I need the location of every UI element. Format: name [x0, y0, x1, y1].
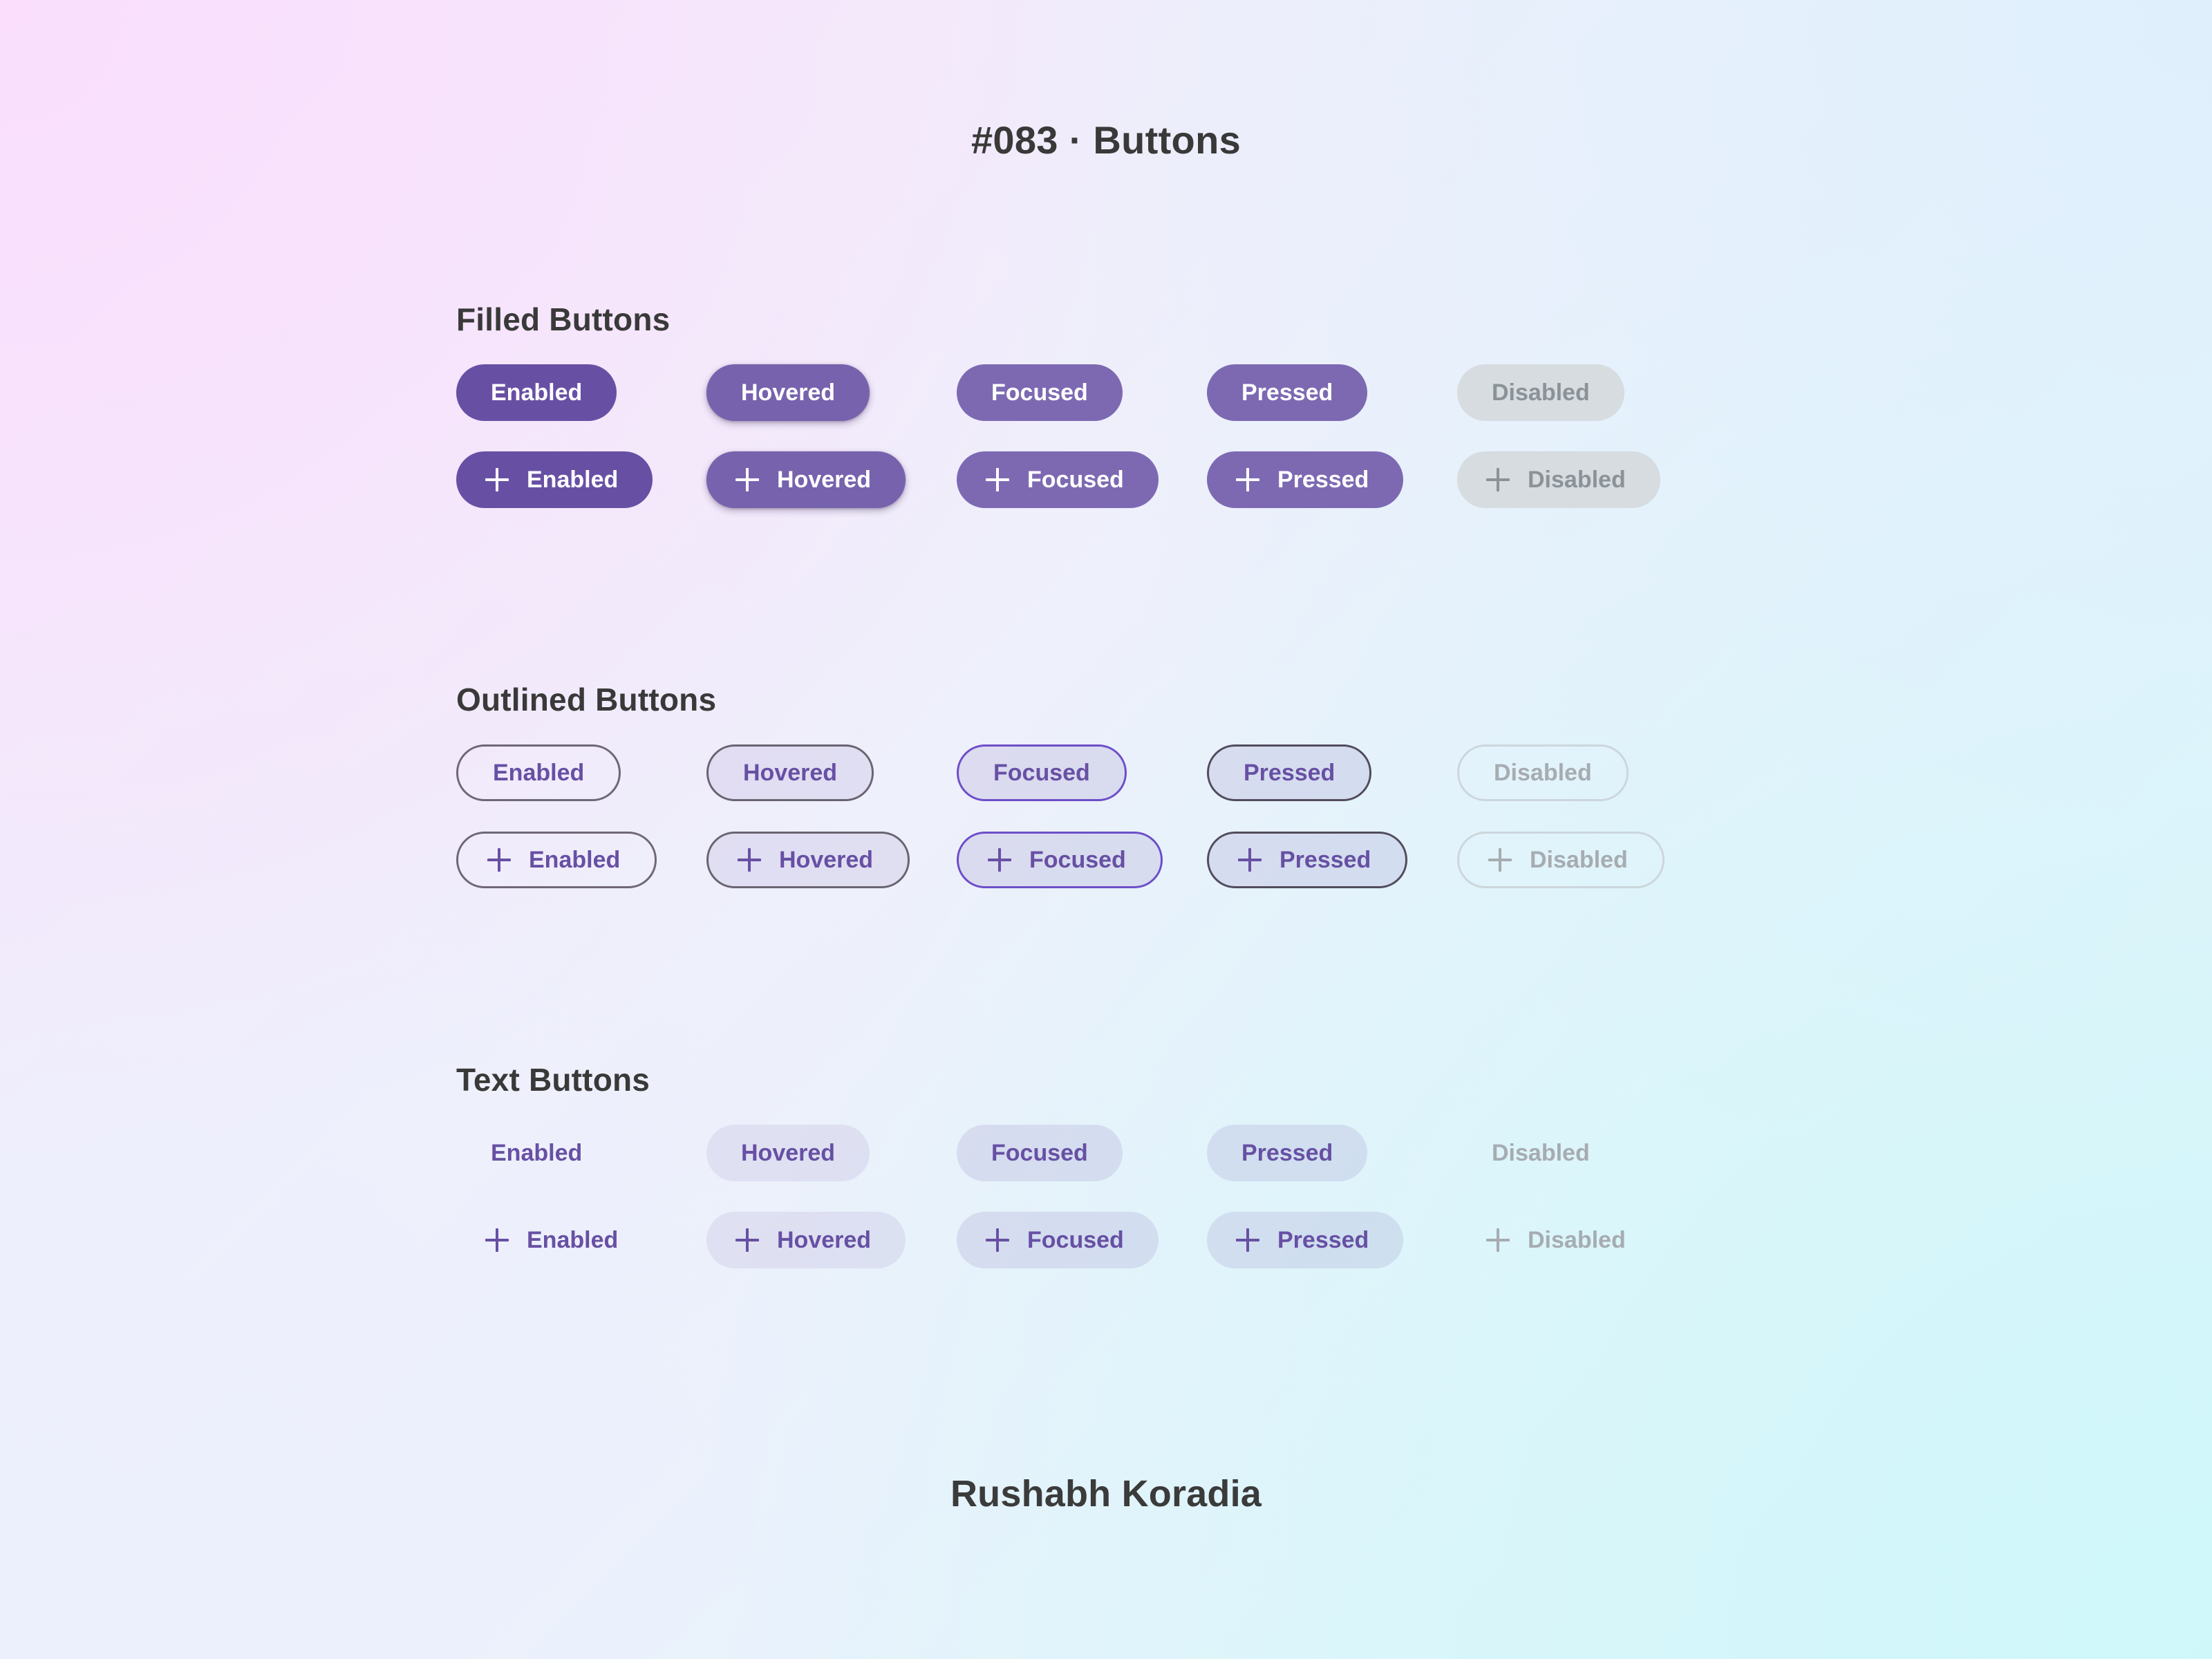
footer-author-name: Rushabh Koradia	[0, 1472, 2212, 1515]
button-label: Focused	[991, 381, 1088, 404]
text-enabled-button[interactable]: Enabled	[456, 1125, 617, 1181]
plus-icon	[986, 468, 1009, 491]
text-focused-button[interactable]: Focused	[957, 1125, 1123, 1181]
text-focused-button-with-icon[interactable]: Focused	[957, 1212, 1159, 1268]
filled-hovered-button[interactable]: Hovered	[706, 364, 870, 421]
button-slot: Enabled	[456, 451, 706, 508]
button-label: Pressed	[1280, 848, 1371, 872]
button-slot: Pressed	[1207, 1212, 1457, 1268]
button-label: Focused	[991, 1141, 1088, 1165]
button-label: Enabled	[527, 468, 618, 491]
text-enabled-button-with-icon[interactable]: Enabled	[456, 1212, 653, 1268]
button-label: Pressed	[1241, 381, 1333, 404]
plus-icon	[986, 1228, 1009, 1252]
filled-pressed-button[interactable]: Pressed	[1207, 364, 1367, 421]
button-slot: Focused	[957, 1212, 1207, 1268]
text-pressed-button-with-icon[interactable]: Pressed	[1207, 1212, 1403, 1268]
button-slot: Disabled	[1457, 451, 1707, 508]
outlined-disabled-button-with-icon: Disabled	[1457, 832, 1665, 888]
button-slot: Hovered	[706, 364, 957, 421]
section-filled-buttons: Filled ButtonsEnabledHoveredFocusedPress…	[456, 301, 1707, 508]
button-slot: Focused	[957, 1125, 1207, 1181]
button-slot: Enabled	[456, 1125, 706, 1181]
button-label: Hovered	[777, 1228, 871, 1252]
text-hovered-button-with-icon[interactable]: Hovered	[706, 1212, 906, 1268]
text-disabled-button-with-icon: Disabled	[1457, 1212, 1660, 1268]
outlined-enabled-button-with-icon[interactable]: Enabled	[456, 832, 657, 888]
section-outlined-buttons: Outlined ButtonsEnabledHoveredFocusedPre…	[456, 681, 1707, 888]
text-hovered-button[interactable]: Hovered	[706, 1125, 870, 1181]
outlined-hovered-button-with-icon[interactable]: Hovered	[706, 832, 910, 888]
plus-icon	[1238, 848, 1262, 872]
design-canvas: #083 · Buttons Filled ButtonsEnabledHove…	[0, 0, 2212, 1659]
plus-icon	[1488, 848, 1512, 872]
plus-icon	[485, 1228, 509, 1252]
button-slot: Disabled	[1457, 364, 1707, 421]
button-label: Enabled	[491, 381, 582, 404]
button-label: Hovered	[779, 848, 873, 872]
button-row-filled-icons: EnabledHoveredFocusedPressedDisabled	[456, 451, 1707, 508]
button-slot: Pressed	[1207, 364, 1457, 421]
button-slot: Pressed	[1207, 451, 1457, 508]
plus-icon	[735, 1228, 759, 1252]
button-slot: Pressed	[1207, 832, 1457, 888]
filled-pressed-button-with-icon[interactable]: Pressed	[1207, 451, 1403, 508]
button-slot: Focused	[957, 364, 1207, 421]
button-label: Enabled	[493, 761, 584, 785]
button-slot: Enabled	[456, 364, 706, 421]
button-row-text-icons: EnabledHoveredFocusedPressedDisabled	[456, 1212, 1707, 1268]
plus-icon	[738, 848, 761, 872]
section-title-filled: Filled Buttons	[456, 301, 1707, 338]
button-slot: Focused	[957, 451, 1207, 508]
button-slot: Enabled	[456, 744, 706, 801]
button-label: Pressed	[1277, 1228, 1369, 1252]
button-label: Focused	[1029, 848, 1126, 872]
button-label: Focused	[1027, 1228, 1124, 1252]
text-pressed-button[interactable]: Pressed	[1207, 1125, 1367, 1181]
button-slot: Disabled	[1457, 1212, 1707, 1268]
button-label: Disabled	[1528, 468, 1626, 491]
button-label: Enabled	[491, 1141, 582, 1165]
button-label: Focused	[993, 761, 1090, 785]
outlined-hovered-button[interactable]: Hovered	[706, 744, 874, 801]
button-slot: Pressed	[1207, 1125, 1457, 1181]
outlined-focused-button[interactable]: Focused	[957, 744, 1127, 801]
button-label: Pressed	[1244, 761, 1335, 785]
plus-icon	[988, 848, 1011, 872]
button-label: Hovered	[741, 1141, 835, 1165]
button-slot: Hovered	[706, 1125, 957, 1181]
section-text-buttons: Text ButtonsEnabledHoveredFocusedPressed…	[456, 1061, 1707, 1268]
button-slot: Enabled	[456, 832, 706, 888]
plus-icon	[1486, 468, 1510, 491]
button-label: Hovered	[743, 761, 837, 785]
button-label: Hovered	[777, 468, 871, 491]
filled-disabled-button: Disabled	[1457, 364, 1624, 421]
filled-focused-button-with-icon[interactable]: Focused	[957, 451, 1159, 508]
filled-focused-button[interactable]: Focused	[957, 364, 1123, 421]
outlined-focused-button-with-icon[interactable]: Focused	[957, 832, 1163, 888]
button-label: Pressed	[1277, 468, 1369, 491]
plus-icon	[485, 468, 509, 491]
button-row-outlined-icons: EnabledHoveredFocusedPressedDisabled	[456, 832, 1707, 888]
plus-icon	[487, 848, 511, 872]
button-label: Enabled	[529, 848, 620, 872]
button-slot: Hovered	[706, 451, 957, 508]
page-title: #083 · Buttons	[0, 118, 2212, 162]
button-row-outlined-labels: EnabledHoveredFocusedPressedDisabled	[456, 744, 1707, 801]
text-disabled-button: Disabled	[1457, 1125, 1624, 1181]
button-slot: Pressed	[1207, 744, 1457, 801]
button-slot: Disabled	[1457, 1125, 1707, 1181]
outlined-pressed-button-with-icon[interactable]: Pressed	[1207, 832, 1407, 888]
button-slot: Hovered	[706, 832, 957, 888]
button-row-filled-labels: EnabledHoveredFocusedPressedDisabled	[456, 364, 1707, 421]
button-label: Disabled	[1494, 761, 1592, 785]
outlined-enabled-button[interactable]: Enabled	[456, 744, 621, 801]
section-title-outlined: Outlined Buttons	[456, 681, 1707, 718]
button-slot: Enabled	[456, 1212, 706, 1268]
plus-icon	[1236, 1228, 1259, 1252]
button-slot: Hovered	[706, 1212, 957, 1268]
button-row-text-labels: EnabledHoveredFocusedPressedDisabled	[456, 1125, 1707, 1181]
section-title-text: Text Buttons	[456, 1061, 1707, 1098]
plus-icon	[1486, 1228, 1510, 1252]
button-label: Disabled	[1492, 381, 1590, 404]
filled-hovered-button-with-icon[interactable]: Hovered	[706, 451, 906, 508]
filled-enabled-button-with-icon[interactable]: Enabled	[456, 451, 653, 508]
filled-enabled-button[interactable]: Enabled	[456, 364, 617, 421]
button-label: Disabled	[1530, 848, 1628, 872]
button-label: Focused	[1027, 468, 1124, 491]
button-label: Enabled	[527, 1228, 618, 1252]
button-slot: Hovered	[706, 744, 957, 801]
button-label: Disabled	[1528, 1228, 1626, 1252]
plus-icon	[1236, 468, 1259, 491]
button-slot: Disabled	[1457, 832, 1707, 888]
outlined-pressed-button[interactable]: Pressed	[1207, 744, 1371, 801]
button-slot: Focused	[957, 832, 1207, 888]
outlined-disabled-button: Disabled	[1457, 744, 1629, 801]
button-label: Hovered	[741, 381, 835, 404]
button-slot: Focused	[957, 744, 1207, 801]
button-slot: Disabled	[1457, 744, 1707, 801]
button-label: Disabled	[1492, 1141, 1590, 1165]
plus-icon	[735, 468, 759, 491]
button-label: Pressed	[1241, 1141, 1333, 1165]
filled-disabled-button-with-icon: Disabled	[1457, 451, 1660, 508]
